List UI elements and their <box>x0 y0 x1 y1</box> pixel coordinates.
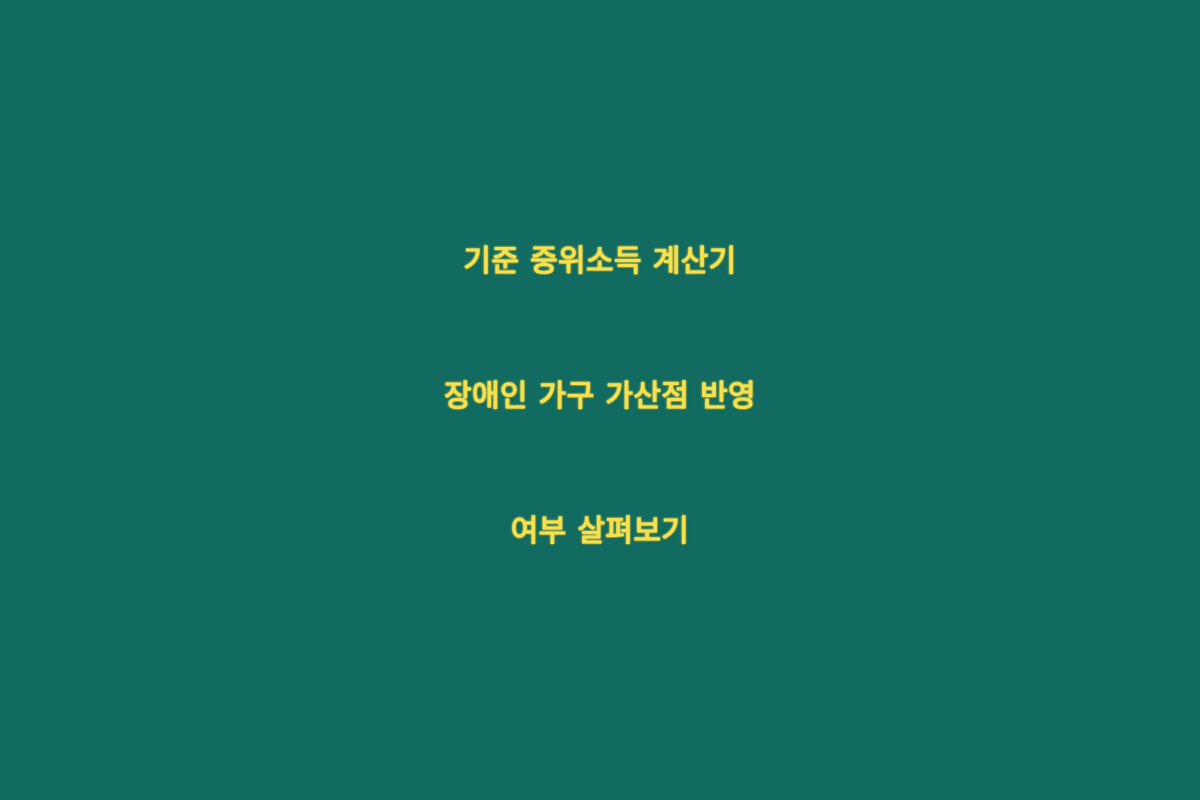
page-title: 기준 중위소득 계산기 장애인 가구 가산점 반영 여부 살펴보기 <box>0 194 1200 599</box>
title-line-2: 장애인 가구 가산점 반영 <box>24 329 1176 464</box>
title-line-1: 기준 중위소득 계산기 <box>24 194 1176 329</box>
title-line-3: 여부 살펴보기 <box>24 464 1176 599</box>
banner-canvas: 기준 중위소득 계산기 장애인 가구 가산점 반영 여부 살펴보기 <box>0 0 1200 800</box>
